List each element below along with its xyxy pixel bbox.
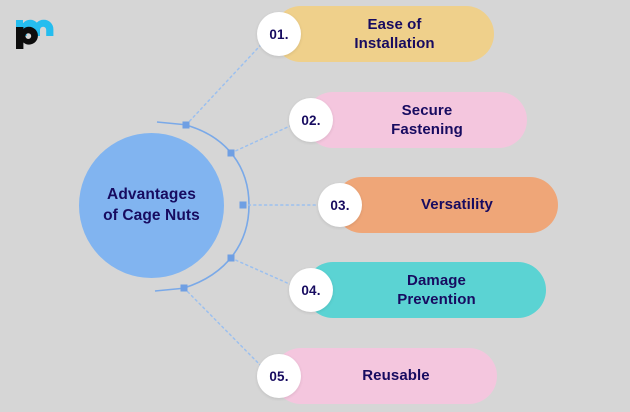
center-topic-label: Advantages of Cage Nuts xyxy=(95,185,208,226)
arc-node-1 xyxy=(183,122,190,129)
arc-node-5 xyxy=(181,285,188,292)
list-item[interactable]: Versatility 03. xyxy=(334,177,558,233)
item-number-1: 01. xyxy=(269,27,288,42)
item-number-2: 02. xyxy=(301,113,320,128)
arc-node-3 xyxy=(240,202,247,209)
item-pill-3[interactable]: Versatility xyxy=(334,177,558,233)
item-number-5: 05. xyxy=(269,369,288,384)
item-pill-5[interactable]: Reusable xyxy=(273,348,497,404)
item-number-badge-2[interactable]: 02. xyxy=(289,98,333,142)
item-label-3: Versatility xyxy=(385,195,507,215)
arc-node-4 xyxy=(228,255,235,262)
leader-line-1 xyxy=(186,34,271,125)
list-item[interactable]: Ease of Installation 01. xyxy=(273,6,494,62)
item-label-1: Ease of Installation xyxy=(318,15,448,54)
item-number-4: 04. xyxy=(301,283,320,298)
list-item[interactable]: Damage Prevention 04. xyxy=(305,262,546,318)
arc-node-2 xyxy=(228,150,235,157)
item-pill-2[interactable]: Secure Fastening xyxy=(305,92,527,148)
item-pill-1[interactable]: Ease of Installation xyxy=(273,6,494,62)
item-number-badge-1[interactable]: 01. xyxy=(257,12,301,56)
item-pill-4[interactable]: Damage Prevention xyxy=(305,262,546,318)
infographic-canvas: Advantages of Cage Nuts Ease of Installa… xyxy=(0,0,630,412)
item-label-4: Damage Prevention xyxy=(361,271,490,310)
list-item[interactable]: Reusable 05. xyxy=(273,348,497,404)
item-number-3: 03. xyxy=(330,198,349,213)
list-item[interactable]: Secure Fastening 02. xyxy=(305,92,527,148)
center-topic-circle[interactable]: Advantages of Cage Nuts xyxy=(79,133,224,278)
item-number-badge-3[interactable]: 03. xyxy=(318,183,362,227)
item-number-badge-5[interactable]: 05. xyxy=(257,354,301,398)
item-number-badge-4[interactable]: 04. xyxy=(289,268,333,312)
item-label-5: Reusable xyxy=(326,366,444,386)
item-label-2: Secure Fastening xyxy=(355,101,477,140)
leader-line-5 xyxy=(184,288,271,376)
